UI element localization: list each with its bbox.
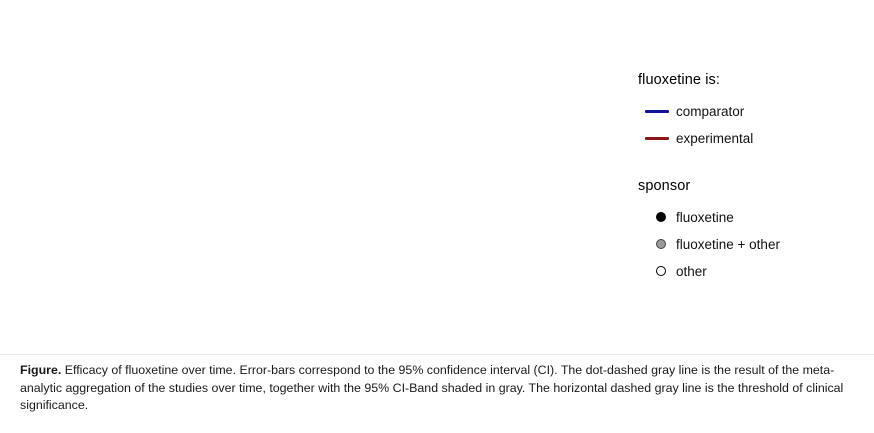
gray-circle-icon — [646, 239, 676, 249]
comparator-line-swatch — [638, 110, 676, 113]
legend-color-title: fluoxetine is: — [638, 72, 874, 88]
figure-root: fluoxetine is: comparator experimental s… — [0, 0, 874, 433]
legend-label-comparator: comparator — [676, 104, 744, 119]
legend-item-sponsor-other: other — [638, 259, 874, 283]
legend-label-sponsor-fluoxetine-other: fluoxetine + other — [676, 237, 780, 252]
legend-item-sponsor-fluoxetine-other: fluoxetine + other — [638, 232, 874, 256]
caption-divider — [0, 354, 874, 355]
chart-legend: fluoxetine is: comparator experimental s… — [638, 72, 874, 286]
legend-label-experimental: experimental — [676, 131, 753, 146]
caption-lead: Figure. — [20, 363, 61, 377]
legend-item-sponsor-fluoxetine: fluoxetine — [638, 205, 874, 229]
legend-shape-title: sponsor — [638, 178, 874, 194]
legend-item-comparator: comparator — [638, 99, 874, 123]
scatter-chart-svg — [0, 0, 640, 355]
legend-label-sponsor-fluoxetine: fluoxetine — [676, 210, 734, 225]
open-circle-icon — [646, 266, 676, 276]
filled-circle-icon — [646, 212, 676, 222]
figure-caption: Figure. Efficacy of fluoxetine over time… — [20, 362, 860, 415]
legend-item-experimental: experimental — [638, 126, 874, 150]
legend-label-sponsor-other: other — [676, 264, 707, 279]
experimental-line-swatch — [638, 137, 676, 140]
caption-text: Efficacy of fluoxetine over time. Error-… — [20, 363, 843, 412]
chart-plot-area — [0, 0, 640, 355]
